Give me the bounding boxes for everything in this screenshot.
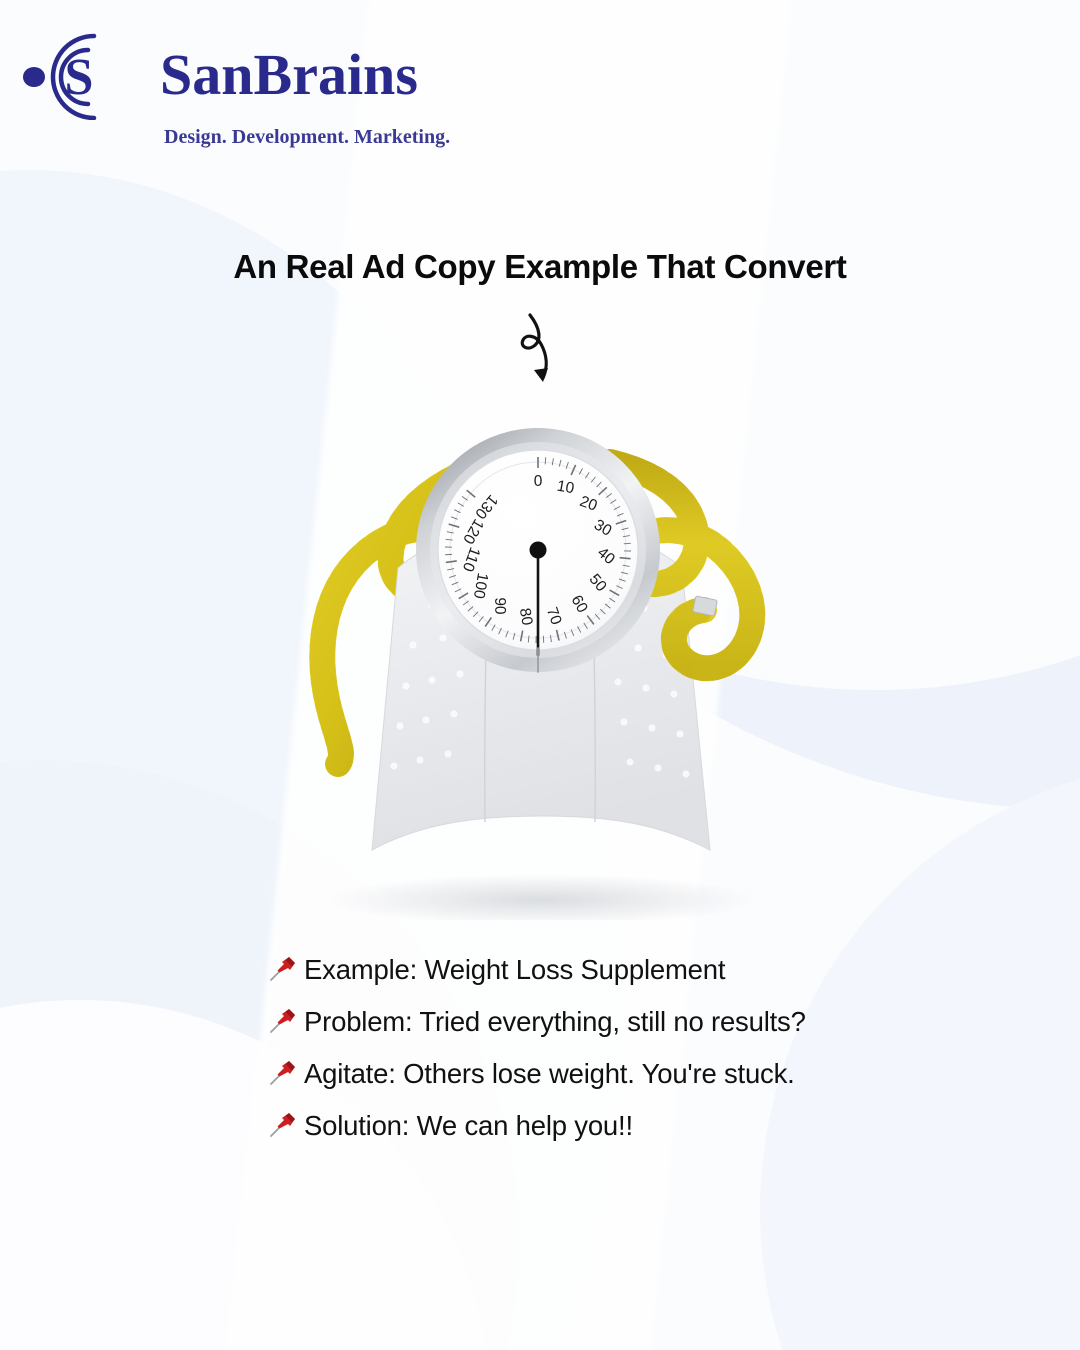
list-item[interactable]: Agitate: Others lose weight. You're stuc… — [268, 1048, 968, 1100]
list-item-label: Agitate: Others lose weight. You're stuc… — [304, 1058, 795, 1090]
svg-text:10: 10 — [556, 478, 576, 498]
pushpin-icon — [268, 1058, 298, 1088]
list-item[interactable]: Problem: Tried everything, still no resu… — [268, 996, 968, 1048]
svg-text:80: 80 — [516, 607, 536, 627]
poster-canvas: S SanBrains Design. Development. Marketi… — [0, 0, 1080, 1350]
weighing-scale-illustration: 0102030405060708090100110120130 — [280, 400, 800, 920]
pushpin-icon — [268, 1110, 298, 1140]
svg-text:0: 0 — [534, 473, 543, 490]
page-title: An Real Ad Copy Example That Convert — [0, 248, 1080, 286]
scale-dial: 0102030405060708090100110120130 — [416, 428, 660, 672]
svg-text:90: 90 — [491, 597, 508, 615]
svg-text:S: S — [65, 49, 94, 106]
list-item-label: Example: Weight Loss Supplement — [304, 954, 725, 986]
list-item-label: Problem: Tried everything, still no resu… — [304, 1006, 806, 1038]
sanbrains-logo-icon: S — [22, 30, 142, 120]
brand-logo[interactable]: S SanBrains Design. Development. Marketi… — [22, 28, 462, 138]
pushpin-icon — [268, 1006, 298, 1036]
bullet-list: Example: Weight Loss Supplement Problem:… — [268, 944, 968, 1152]
curly-down-arrow-icon — [496, 312, 576, 394]
brand-name: SanBrains — [160, 46, 418, 104]
brand-tagline: Design. Development. Marketing. — [164, 126, 450, 149]
dial-needle-hub — [530, 542, 547, 559]
pushpin-icon — [268, 954, 298, 984]
list-item[interactable]: Example: Weight Loss Supplement — [268, 944, 968, 996]
list-item-label: Solution: We can help you!! — [304, 1110, 633, 1142]
list-item[interactable]: Solution: We can help you!! — [268, 1100, 968, 1152]
